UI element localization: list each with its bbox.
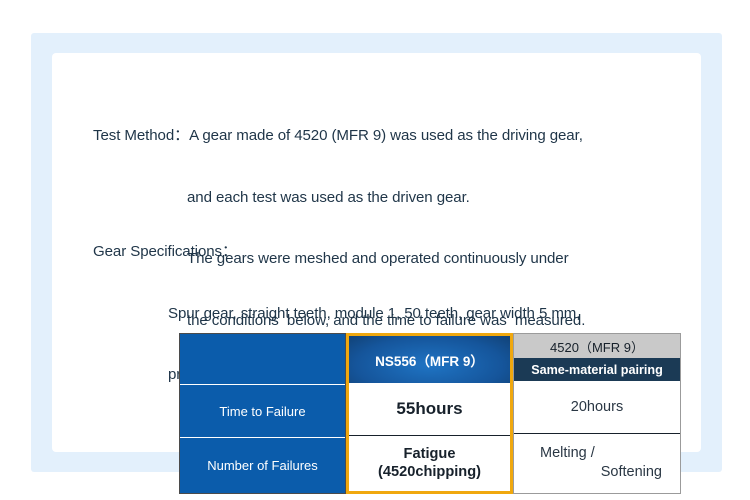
- cell-ns556-failure-line-1: Fatigue: [404, 445, 456, 463]
- comparison-table: Time to Failure Number of Failures NS556…: [179, 333, 681, 494]
- gear-specifications-label: Gear Specifications：: [93, 242, 593, 263]
- table-column-ns556[interactable]: NS556（MFR 9） 55hours Fatigue (4520chippi…: [346, 333, 513, 494]
- column-header-ns556: NS556（MFR 9）: [349, 336, 510, 383]
- cell-4520-failure-line-2: Softening: [601, 463, 680, 482]
- test-method-text-1: A gear made of 4520 (MFR 9) was used as …: [189, 127, 583, 144]
- cell-ns556-failure-mode: Fatigue (4520chipping): [349, 435, 510, 490]
- column-header-4520-pairing-note: Same-material pairing: [514, 358, 680, 381]
- cell-ns556-failure-line-2: (4520chipping): [378, 463, 481, 481]
- test-method-label: Test Method：: [93, 127, 189, 144]
- gear-specifications-line-1: Spur gear, straight teeth, module 1, 50 …: [93, 304, 593, 325]
- cell-4520-failure-line-1: Melting /: [514, 444, 595, 463]
- table-corner-cell: [180, 334, 345, 384]
- column-header-4520-material: 4520（MFR 9）: [514, 334, 680, 358]
- table-row-label-column: Time to Failure Number of Failures: [179, 333, 346, 494]
- cell-ns556-time-to-failure: 55hours: [349, 383, 510, 435]
- slide-outer-frame: Test Method：A gear made of 4520 (MFR 9) …: [31, 33, 722, 472]
- row-label-number-of-failures: Number of Failures: [180, 437, 345, 493]
- slide-content-panel: Test Method：A gear made of 4520 (MFR 9) …: [52, 53, 701, 452]
- test-method-line-1: Test Method：A gear made of 4520 (MFR 9) …: [93, 126, 585, 147]
- table-column-4520[interactable]: 4520（MFR 9） Same-material pairing 20hour…: [513, 333, 681, 494]
- cell-4520-time-to-failure: 20hours: [514, 381, 680, 433]
- cell-4520-failure-mode: Melting / Softening: [514, 433, 680, 492]
- row-label-time-to-failure: Time to Failure: [180, 384, 345, 437]
